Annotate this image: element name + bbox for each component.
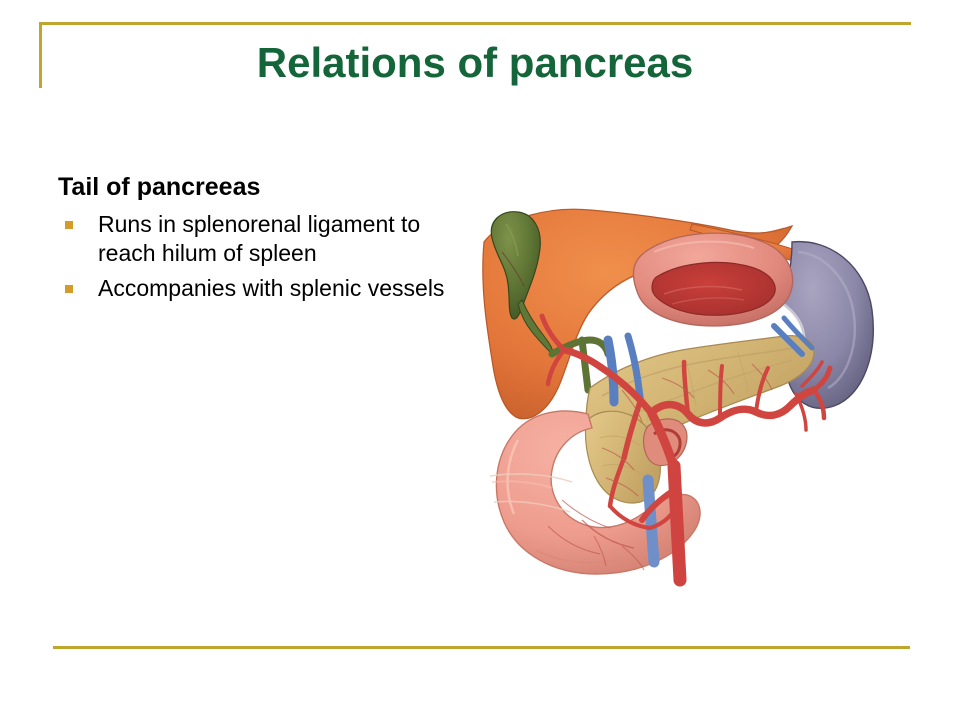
list-item-text: Runs in splenorenal ligament to reach hi… [98, 211, 420, 266]
square-bullet-icon [65, 285, 73, 293]
bottom-accent-rule [53, 646, 910, 649]
square-bullet-icon [65, 221, 73, 229]
body-content: Tail of pancreeas Runs in splenorenal li… [58, 172, 458, 309]
anatomy-svg [462, 190, 882, 610]
pancreas-relations-illustration [462, 190, 882, 610]
slide-title: Relations of pancreas [39, 38, 911, 88]
slide-canvas: Relations of pancreas Tail of pancreeas … [0, 0, 960, 720]
spleen-structure [780, 242, 873, 409]
list-item: Accompanies with splenic vessels [58, 274, 458, 303]
stomach-structure [633, 233, 792, 326]
top-accent-rule [39, 22, 911, 25]
list-item-text: Accompanies with splenic vessels [98, 275, 444, 301]
list-item: Runs in splenorenal ligament to reach hi… [58, 210, 458, 268]
body-heading: Tail of pancreeas [58, 172, 458, 202]
bullet-list: Runs in splenorenal ligament to reach hi… [58, 210, 458, 303]
